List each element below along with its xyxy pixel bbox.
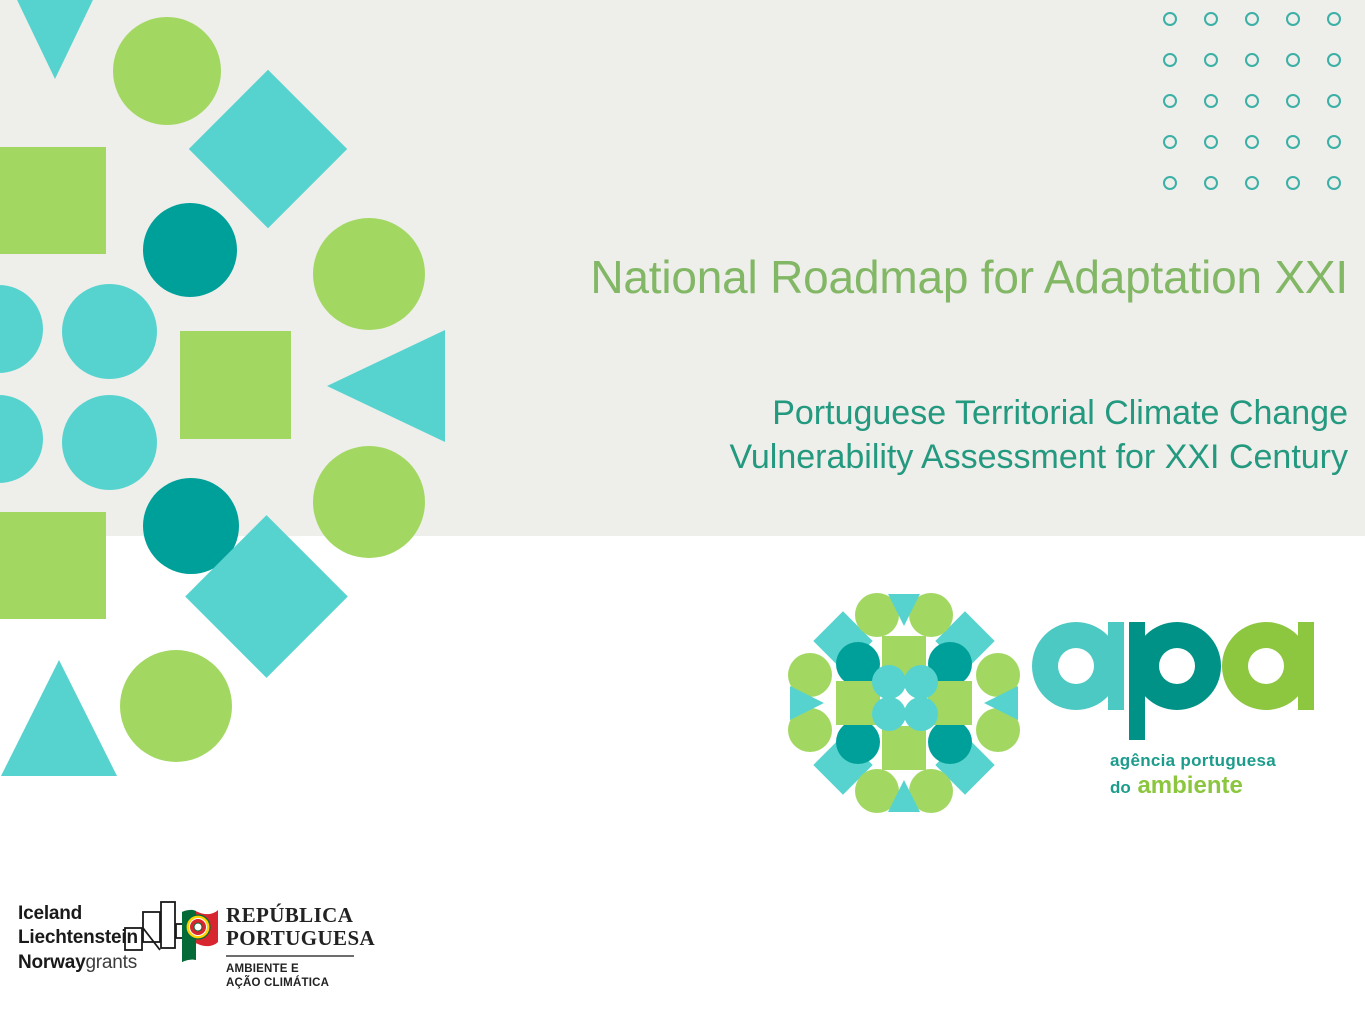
circle-teal-icon — [62, 284, 157, 379]
eea-grants-logo: Iceland Liechtenstein Norwaygrants — [18, 902, 168, 997]
circle-green-icon — [313, 446, 425, 558]
portugal-flag-svg — [180, 908, 220, 970]
republica-portuguesa-text: REPÚBLICA PORTUGUESA AMBIENTE E AÇÃO CLI… — [226, 904, 375, 991]
dot-ring-icon — [1245, 94, 1259, 108]
apa-tagline-line1: agência portuguesa — [1110, 752, 1276, 771]
apa-mandala-svg — [788, 592, 1020, 814]
decorative-shapes-cluster — [0, 0, 470, 800]
apa-tagline-ambiente: ambiente — [1137, 772, 1242, 799]
footer-logo-strip: Iceland Liechtenstein Norwaygrants — [0, 890, 700, 1015]
republica-portuguesa-logo: REPÚBLICA PORTUGUESA AMBIENTE E AÇÃO CLI… — [180, 902, 355, 997]
triangle-left-teal-icon — [327, 330, 445, 442]
dot-ring-icon — [1204, 176, 1218, 190]
triangle-up-teal-icon — [1, 660, 117, 776]
dot-ring-icon — [1245, 53, 1259, 67]
apa-tagline-line2: do ambiente — [1110, 773, 1276, 799]
circle-green-icon — [113, 17, 221, 125]
square-green-icon — [0, 512, 106, 619]
circle-teal-icon — [0, 395, 43, 483]
dot-ring-icon — [1327, 176, 1341, 190]
dot-ring-icon — [1245, 12, 1259, 26]
dot-ring-icon — [1327, 94, 1341, 108]
dot-ring-icon — [1245, 135, 1259, 149]
apa-wordmark: agência portuguesa do ambiente — [1032, 614, 1322, 814]
dot-ring-icon — [1163, 53, 1177, 67]
apa-tagline: agência portuguesa do ambiente — [1110, 752, 1276, 799]
republica-line2: PORTUGUESA — [226, 927, 375, 950]
dot-ring-icon — [1204, 94, 1218, 108]
dot-ring-icon — [1327, 12, 1341, 26]
dot-ring-icon — [1286, 12, 1300, 26]
subtitle-line-2: Vulnerability Assessment for XXI Century — [448, 436, 1348, 480]
circle-green-icon — [313, 218, 425, 330]
dot-ring-icon — [1204, 53, 1218, 67]
dot-ring-icon — [1163, 12, 1177, 26]
circle-green-icon — [120, 650, 232, 762]
eea-norway: Norway — [18, 952, 85, 973]
slide-subtitle: Portuguese Territorial Climate Change Vu… — [448, 392, 1348, 479]
circle-teal-icon — [62, 395, 157, 490]
dot-ring-icon — [1204, 12, 1218, 26]
republica-line1: REPÚBLICA — [226, 904, 375, 927]
dot-ring-icon — [1286, 94, 1300, 108]
dot-ring-icon — [1163, 176, 1177, 190]
slide-title: National Roadmap for Adaptation XXI — [448, 252, 1348, 304]
circle-darkteal-icon — [143, 203, 237, 297]
dot-ring-icon — [1204, 135, 1218, 149]
dot-ring-icon — [1286, 135, 1300, 149]
circle-teal-icon — [0, 285, 43, 373]
apa-mandala-icon — [788, 592, 1020, 814]
subtitle-line-1: Portuguese Territorial Climate Change — [448, 392, 1348, 436]
presentation-slide: National Roadmap for Adaptation XXI Port… — [0, 0, 1365, 1024]
dot-ring-icon — [1245, 176, 1259, 190]
dot-ring-icon — [1163, 135, 1177, 149]
triangle-down-teal-icon — [0, 0, 115, 79]
portugal-flag-emblem-icon — [180, 908, 220, 970]
dot-ring-icon — [1286, 53, 1300, 67]
square-green-icon — [180, 331, 291, 439]
republica-divider — [226, 955, 354, 956]
republica-sub-line1: AMBIENTE E — [226, 962, 375, 976]
dot-ring-icon — [1163, 94, 1177, 108]
apa-logo-large: agência portuguesa do ambiente — [780, 592, 1320, 842]
dot-grid-decoration — [1163, 12, 1365, 217]
title-block: National Roadmap for Adaptation XXI — [448, 252, 1348, 304]
eea-grants-mark-svg — [123, 900, 187, 962]
square-green-icon — [0, 147, 106, 254]
apa-letters-svg — [1032, 614, 1322, 744]
eea-grants-mark-icon — [123, 900, 187, 962]
apa-tagline-do: do — [1110, 778, 1131, 797]
dot-ring-icon — [1327, 135, 1341, 149]
republica-sub-line2: AÇÃO CLIMÁTICA — [226, 976, 375, 990]
dot-ring-icon — [1327, 53, 1341, 67]
dot-ring-icon — [1286, 176, 1300, 190]
